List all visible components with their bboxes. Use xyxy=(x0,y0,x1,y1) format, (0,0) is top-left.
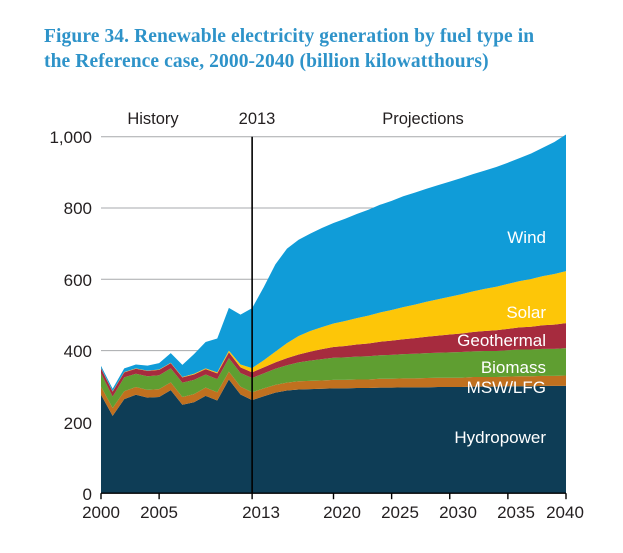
area-band-hydropower xyxy=(101,379,566,493)
renewable-generation-area-chart: History 2013 Projections 1,000 800 600 4… xyxy=(0,0,623,553)
stacked-area-plot xyxy=(0,0,623,553)
